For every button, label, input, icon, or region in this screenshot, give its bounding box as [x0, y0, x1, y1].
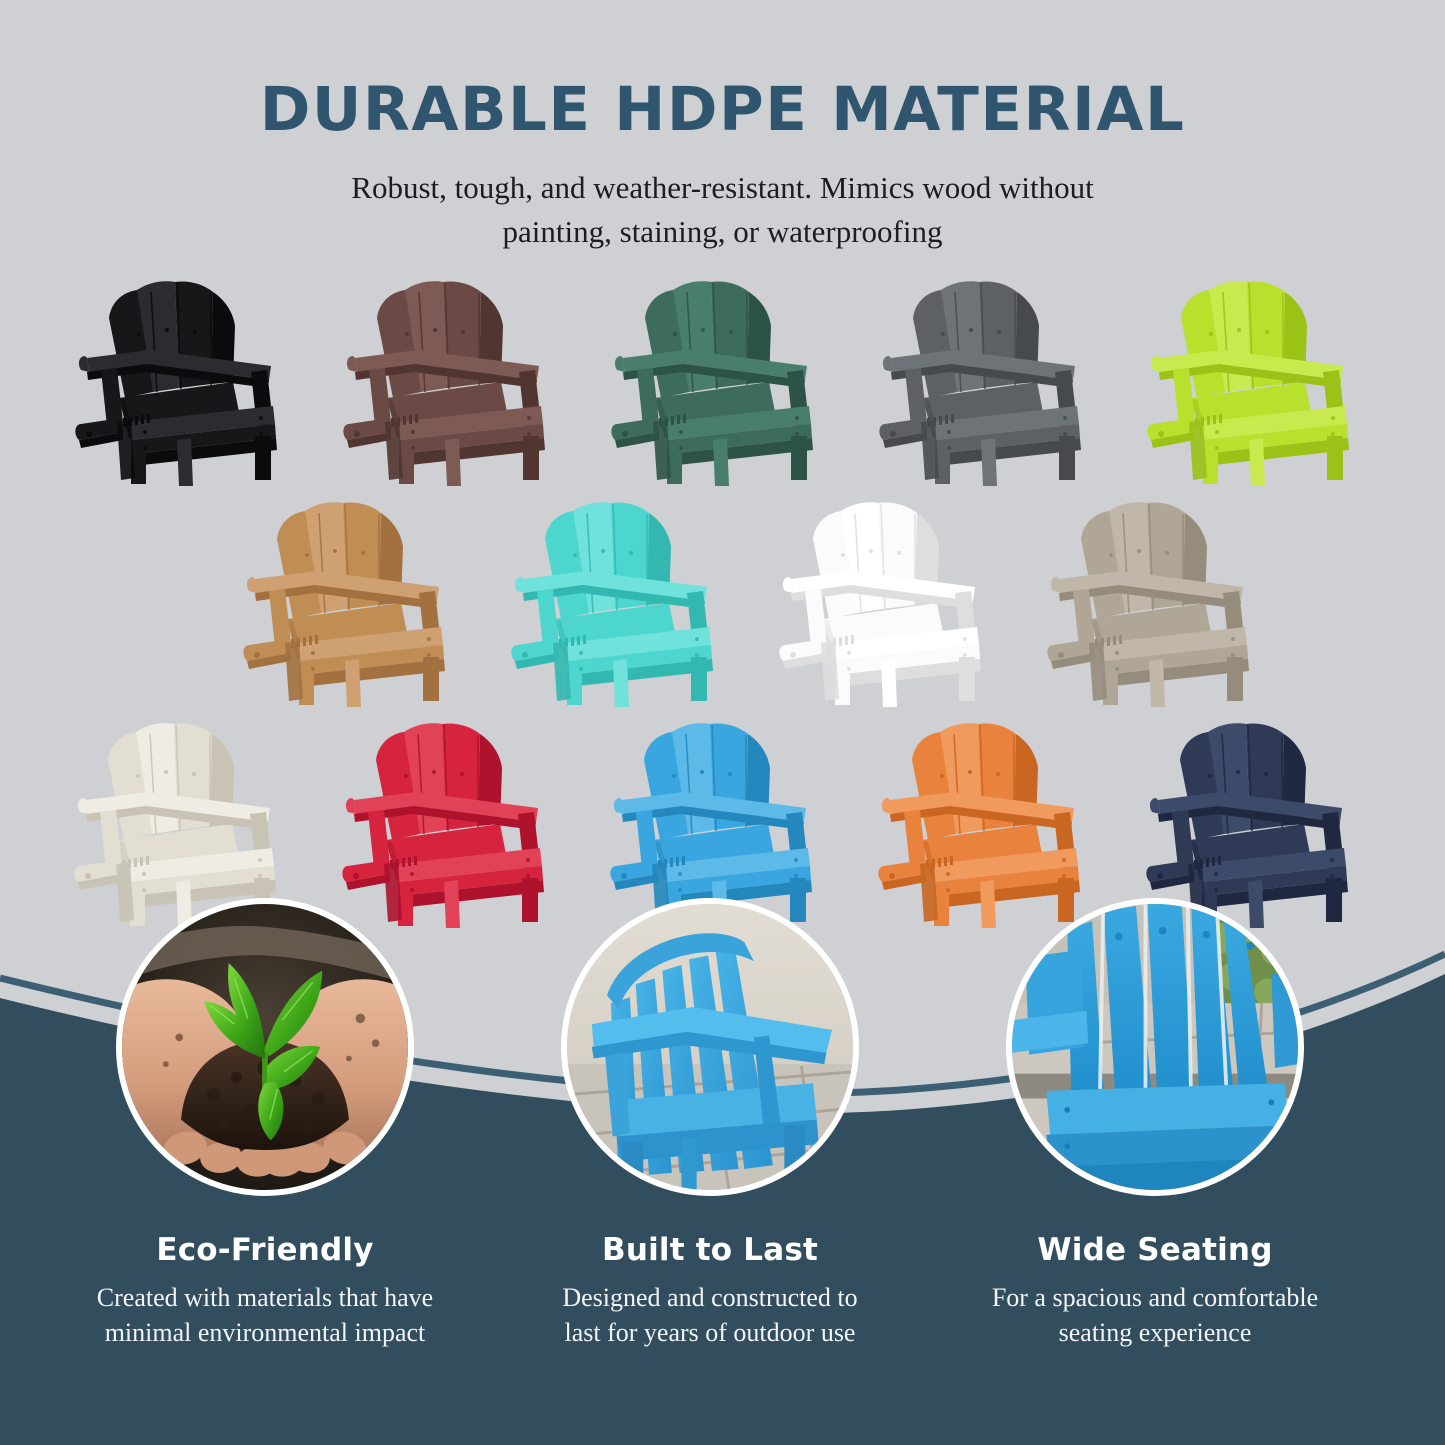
feature-photo-circle-wide: [1006, 898, 1304, 1196]
feature-desc-line-2: seating experience: [940, 1315, 1370, 1350]
feature-description: Designed and constructed to last for yea…: [495, 1280, 925, 1350]
feature-desc-line-2: last for years of outdoor use: [495, 1315, 925, 1350]
adirondack-chair-icon: [233, 493, 483, 708]
feature-desc-line-1: Created with materials that have: [50, 1280, 480, 1315]
adirondack-chair-icon: [501, 493, 751, 708]
feature-photo-circle-built: [561, 898, 859, 1196]
subtitle-line-2: painting, staining, or waterproofing: [0, 210, 1445, 254]
feature-description: Created with materials that have minimal…: [50, 1280, 480, 1350]
chair-swatch-black[interactable]: [65, 272, 315, 487]
adirondack-chair-icon: [601, 272, 851, 487]
feature-desc-line-2: minimal environmental impact: [50, 1315, 480, 1350]
header: DURABLE HDPE MATERIAL Robust, tough, and…: [0, 0, 1445, 254]
hands-seedling-photo: [122, 904, 408, 1190]
chair-swatch-gray[interactable]: [869, 272, 1119, 487]
adirondack-chair-icon: [65, 272, 315, 487]
feature-eco-friendly: Eco-Friendly Created with materials that…: [50, 898, 480, 1350]
chair-row-3: [4, 714, 1445, 929]
adirondack-chair-icon: [769, 493, 1019, 708]
feature-title: Eco-Friendly: [50, 1232, 480, 1268]
adirondack-chair-icon: [600, 714, 850, 929]
chair-swatch-navy[interactable]: [1136, 714, 1386, 929]
adirondack-chair-icon: [1136, 714, 1386, 929]
adirondack-chair-icon: [868, 714, 1118, 929]
page-subtitle: Robust, tough, and weather-resistant. Mi…: [0, 166, 1445, 254]
chair-swatch-green[interactable]: [601, 272, 851, 487]
feature-desc-line-1: For a spacious and comfortable: [940, 1280, 1370, 1315]
chair-swatch-ivory[interactable]: [64, 714, 314, 929]
chair-row-1: [6, 272, 1445, 487]
adirondack-chair-icon: [64, 714, 314, 929]
chair-swatch-light-blue[interactable]: [600, 714, 850, 929]
subtitle-line-1: Robust, tough, and weather-resistant. Mi…: [0, 166, 1445, 210]
adirondack-chair-icon: [869, 272, 1119, 487]
chair-swatch-sand[interactable]: [1037, 493, 1287, 708]
feature-title: Wide Seating: [940, 1232, 1370, 1268]
feature-desc-line-1: Designed and constructed to: [495, 1280, 925, 1315]
infographic-canvas: DURABLE HDPE MATERIAL Robust, tough, and…: [0, 0, 1445, 1445]
wide-seat-closeup-photo: [1012, 904, 1298, 1190]
adirondack-chair-icon: [333, 272, 583, 487]
chair-swatch-brown[interactable]: [333, 272, 583, 487]
chair-swatch-turquoise[interactable]: [501, 493, 751, 708]
chair-color-grid: [0, 272, 1445, 929]
features-section: Eco-Friendly Created with materials that…: [0, 898, 1445, 1445]
feature-wide-seating: Wide Seating For a spacious and comforta…: [940, 898, 1370, 1350]
feature-photo-circle-eco: [116, 898, 414, 1196]
adirondack-chair-icon: [332, 714, 582, 929]
adirondack-chair-icon: [1037, 493, 1287, 708]
chair-swatch-white[interactable]: [769, 493, 1019, 708]
feature-description: For a spacious and comfortable seating e…: [940, 1280, 1370, 1350]
chair-swatch-lime[interactable]: [1137, 272, 1387, 487]
chair-swatch-teak[interactable]: [233, 493, 483, 708]
adirondack-chair-icon: [1137, 272, 1387, 487]
feature-title: Built to Last: [495, 1232, 925, 1268]
chair-swatch-red[interactable]: [332, 714, 582, 929]
chair-row-2: [74, 493, 1445, 708]
page-title: DURABLE HDPE MATERIAL: [0, 78, 1445, 142]
feature-built-to-last: Built to Last Designed and constructed t…: [495, 898, 925, 1350]
blue-chair-patio-photo: [567, 904, 853, 1190]
chair-swatch-orange[interactable]: [868, 714, 1118, 929]
